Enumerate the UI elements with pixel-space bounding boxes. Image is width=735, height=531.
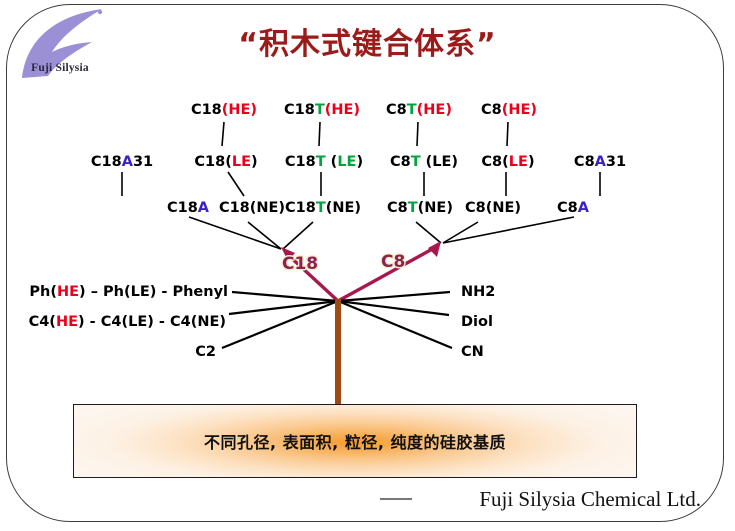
slide-canvas: Fuji Silysia “积木式键合体系”	[0, 0, 735, 531]
node-c8a31: C8A31	[574, 155, 626, 170]
node-c18-ne: C18(NE)	[219, 201, 285, 216]
node-c18-he: C18(HE)	[191, 103, 257, 118]
branch-diol: Diol	[461, 315, 493, 330]
node-c18-le: C18(LE)	[194, 155, 257, 170]
substrate-text: 不同孔径, 表面积, 粒径, 纯度的硅胶基质	[204, 429, 506, 453]
node-c8t-le: C8T (LE)	[390, 155, 458, 170]
node-c8a: C8A	[557, 201, 589, 216]
arrow-label-c18: C18	[282, 256, 318, 273]
node-c8-ne: C8(NE)	[465, 201, 521, 216]
node-c18t-le: C18T (LE)	[285, 155, 363, 170]
node-c18t-ne: C18T(NE)	[285, 201, 361, 216]
node-c18a31: C18A31	[91, 155, 153, 170]
branch-c2: C2	[195, 345, 216, 360]
branch-c4: C4(HE) - C4(LE) - C4(NE)	[29, 315, 226, 330]
branch-phenyl: Ph(HE) – Ph(LE) - Phenyl	[29, 285, 228, 300]
node-c8t-he: C8T(HE)	[386, 103, 452, 118]
node-c8t-ne: C8T(NE)	[387, 201, 453, 216]
branch-nh2: NH2	[461, 285, 495, 300]
branch-cn: CN	[461, 345, 484, 360]
node-c8-le: C8(LE)	[481, 155, 534, 170]
substrate-box: 不同孔径, 表面积, 粒径, 纯度的硅胶基质	[73, 404, 637, 478]
arrow-label-c8: C8	[381, 254, 405, 271]
company-footer: Fuji Silysia Chemical Ltd.	[479, 487, 701, 512]
node-c18t-he: C18T(HE)	[284, 103, 360, 118]
node-c8-he: C8(HE)	[481, 103, 537, 118]
node-c18a: C18A	[167, 201, 209, 216]
